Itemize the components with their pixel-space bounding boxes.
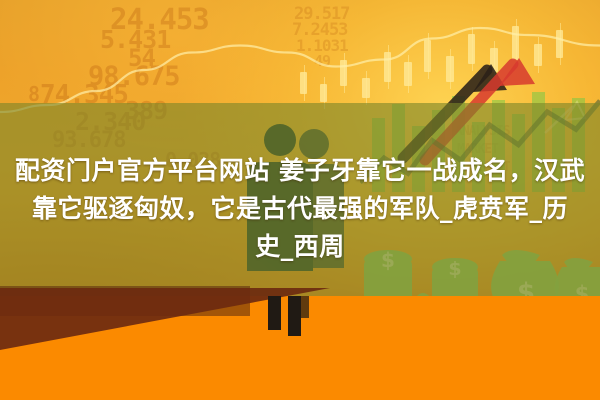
caption-line-2: 靠它驱逐匈奴，它是古代最强的军队_虎贲军_历 xyxy=(10,190,590,228)
silhouette-leg-back xyxy=(300,296,309,318)
caption-line-1: 配资门户官方平台网站 姜子牙靠它一战成名，汉武 xyxy=(10,152,590,190)
caption-overlay: 配资门户官方平台网站 姜子牙靠它一战成名，汉武 靠它驱逐匈奴，它是古代最强的军队… xyxy=(0,152,600,266)
caption-line-3: 史_西周 xyxy=(10,228,590,266)
silhouette-leg-left xyxy=(268,296,281,330)
banner-image: 24.4535.4315498.67574.34538982.34093.678… xyxy=(0,0,600,400)
